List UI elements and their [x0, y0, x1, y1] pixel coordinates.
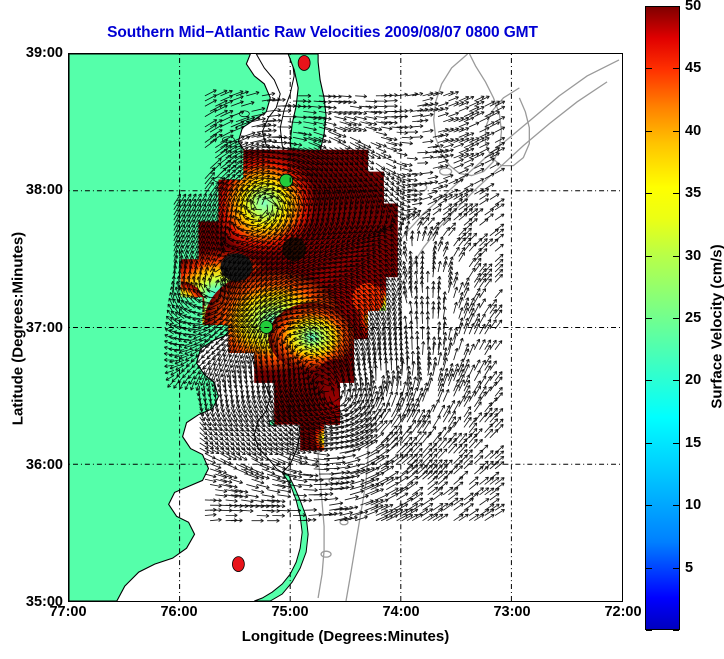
station-marker-green-north	[280, 174, 293, 187]
colorbar[interactable]	[645, 6, 680, 630]
colorbar-tick	[673, 630, 679, 631]
xtick-label: 74:00	[382, 604, 419, 620]
station-marker-red-north	[298, 55, 310, 70]
ytick-label: 37:00	[26, 320, 63, 336]
map-axes[interactable]	[68, 53, 623, 602]
colorbar-label: Surface Velocity (cm/s)	[709, 47, 724, 607]
colorbar-tick-label: 35	[685, 185, 701, 201]
xtick-label: 73:00	[493, 604, 530, 620]
ytick-label: 39:00	[26, 45, 63, 61]
map-plot	[69, 54, 622, 601]
colorbar-tick-label: 30	[685, 248, 701, 264]
colorbar-tick-label: 5	[685, 560, 693, 576]
y-axis-label: Latitude (Degrees:Minutes)	[10, 49, 27, 609]
colorbar-tick-label: 25	[685, 310, 701, 326]
colorbar-tick-label: 20	[685, 372, 701, 388]
x-axis-label: Longitude (Degrees:Minutes)	[68, 628, 623, 645]
colorbar-tick-label: 10	[685, 497, 701, 513]
ytick-label: 38:00	[26, 182, 63, 198]
page-title: Southern Mid−Atlantic Raw Velocities 200…	[0, 24, 645, 42]
xtick-label: 72:00	[604, 604, 641, 620]
ytick-label: 35:00	[26, 594, 63, 610]
colorbar-tick-label: 45	[685, 60, 701, 76]
xtick-label: 75:00	[271, 604, 308, 620]
station-marker-red-south	[232, 557, 244, 572]
xtick-label: 76:00	[160, 604, 197, 620]
colorbar-tick	[646, 630, 652, 631]
colorbar-tick-label: 40	[685, 123, 701, 139]
ytick-label: 36:00	[26, 457, 63, 473]
colorbar-tick-label: 50	[685, 0, 701, 14]
colorbar-gradient	[646, 7, 679, 629]
colorbar-tick-label: 15	[685, 435, 701, 451]
figure-canvas: Southern Mid−Atlantic Raw Velocities 200…	[0, 0, 724, 659]
